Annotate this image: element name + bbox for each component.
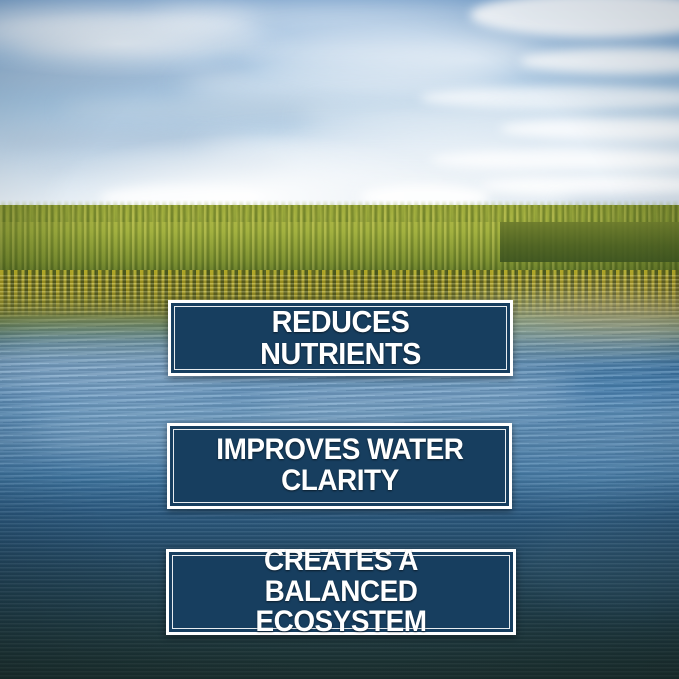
banner-reduces-nutrients: REDUCES NUTRIENTS xyxy=(168,300,513,376)
banner-creates-balanced-ecosystem: CREATES A BALANCED ECOSYSTEM xyxy=(166,549,516,635)
distant-shoreline xyxy=(500,222,679,262)
banner-label: CREATES A BALANCED ECOSYSTEM xyxy=(181,546,501,638)
banner-label: IMPROVES WATER CLARITY xyxy=(207,435,473,496)
banner-label: REDUCES NUTRIENTS xyxy=(183,306,498,369)
sky-background xyxy=(0,0,679,222)
lake-banner-image: REDUCES NUTRIENTS IMPROVES WATER CLARITY… xyxy=(0,0,679,679)
banner-improves-water-clarity: IMPROVES WATER CLARITY xyxy=(167,423,512,509)
